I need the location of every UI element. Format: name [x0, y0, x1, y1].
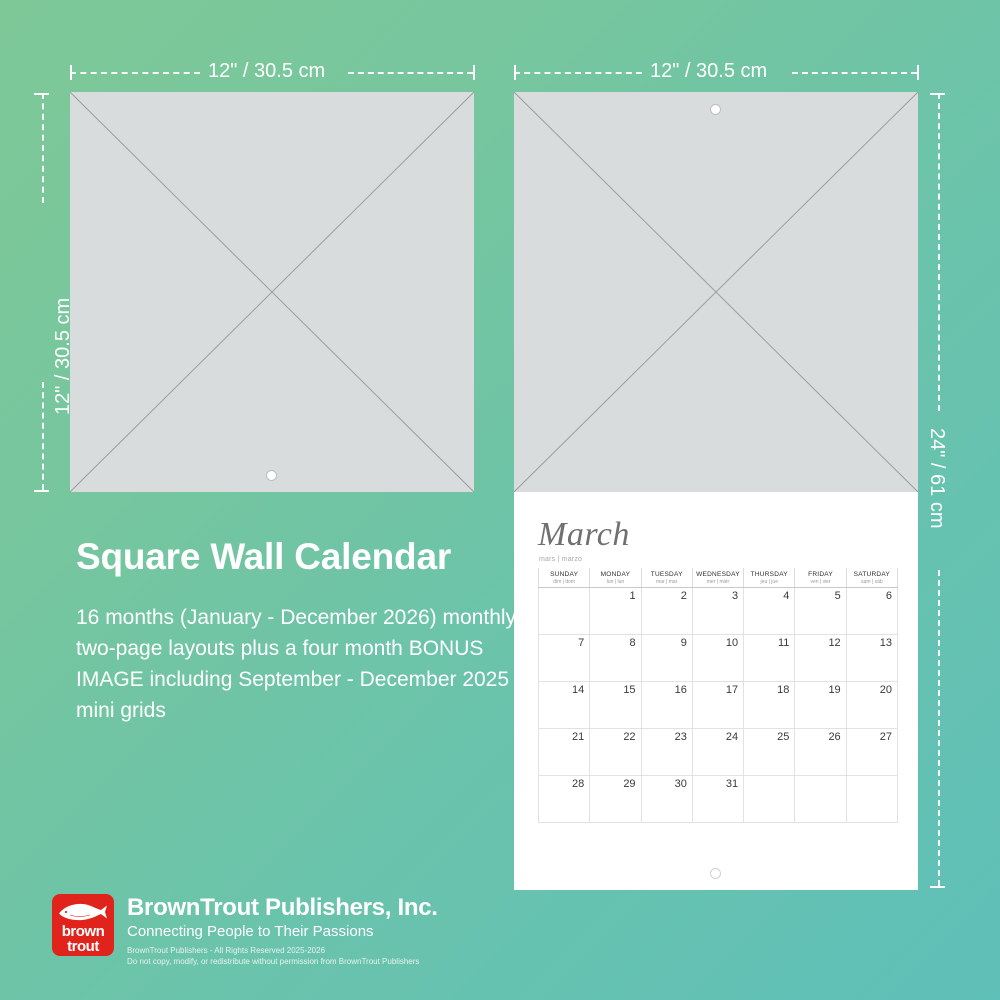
dash-line [514, 72, 642, 74]
weekday-translation: ven | vier [795, 579, 845, 585]
dash-line [938, 93, 940, 411]
calendar-cover-image-placeholder [70, 92, 474, 492]
day-cell[interactable]: 23 [641, 729, 692, 776]
product-preview-canvas: 12" / 30.5 cm 12" / 30.5 cm 12" / 30.5 c… [0, 0, 1000, 1000]
day-cell[interactable]: 19 [795, 682, 846, 729]
weekday-translation: lun | lun [590, 579, 640, 585]
weekday-name: FRIDAY [795, 571, 845, 578]
day-cell[interactable]: 15 [590, 682, 641, 729]
day-cell[interactable] [846, 776, 897, 823]
weekday-header-friday: FRIDAY ven | vier [795, 568, 846, 588]
day-cell[interactable]: 25 [744, 729, 795, 776]
weekday-translation: sam | sáb [847, 579, 897, 585]
tick-cap [34, 490, 49, 492]
logo-word-top: brown [52, 924, 114, 939]
calendar-grid-page: March mars | marzo SUNDAY dim | dom MOND… [514, 492, 918, 890]
weekday-header-sunday: SUNDAY dim | dom [539, 568, 590, 588]
day-cell[interactable]: 9 [641, 635, 692, 682]
day-cell[interactable]: 11 [744, 635, 795, 682]
day-cell[interactable]: 17 [692, 682, 743, 729]
tick-cap [473, 65, 475, 80]
weekday-header-wednesday: WEDNESDAY mer | miér [692, 568, 743, 588]
weekday-header-monday: MONDAY lun | lun [590, 568, 641, 588]
dash-line [792, 72, 917, 74]
weekday-translation: dim | dom [539, 579, 589, 585]
calendar-month-subtitle: mars | marzo [539, 556, 582, 563]
dash-line [348, 72, 473, 74]
day-cell[interactable]: 31 [692, 776, 743, 823]
day-cell[interactable]: 8 [590, 635, 641, 682]
product-description: 16 months (January - December 2026) mont… [76, 602, 546, 726]
calendar-week-row: 1 2 3 4 5 6 [539, 588, 898, 635]
calendar-top-page-image-placeholder [514, 92, 918, 492]
legal-line-2: Do not copy, modify, or redistribute wit… [127, 956, 438, 967]
weekday-name: MONDAY [590, 571, 640, 578]
dash-line [938, 570, 940, 886]
page-title: Square Wall Calendar [76, 536, 451, 578]
tick-cap [930, 886, 945, 888]
calendar-week-row: 28 29 30 31 [539, 776, 898, 823]
footer: brown trout BrownTrout Publishers, Inc. … [52, 894, 438, 967]
day-cell[interactable]: 24 [692, 729, 743, 776]
calendar-table: SUNDAY dim | dom MONDAY lun | lun TUESDA… [538, 568, 898, 823]
calendar-week-row: 21 22 23 24 25 26 27 [539, 729, 898, 776]
weekday-name: TUESDAY [642, 571, 692, 578]
legal-line-1: BrownTrout Publishers - All Rights Reser… [127, 945, 438, 956]
day-cell[interactable]: 2 [641, 588, 692, 635]
dimension-label-right-vertical: 24" / 61 cm [925, 428, 948, 528]
placeholder-cross-icon [70, 92, 474, 492]
day-cell[interactable]: 20 [846, 682, 897, 729]
calendar-weekday-header-row: SUNDAY dim | dom MONDAY lun | lun TUESDA… [539, 568, 898, 588]
dimension-label-top-right: 12" / 30.5 cm [650, 60, 767, 83]
weekday-translation: mar | mar [642, 579, 692, 585]
weekday-name: SATURDAY [847, 571, 897, 578]
day-cell[interactable]: 30 [641, 776, 692, 823]
logo-wordmark: brown trout [52, 924, 114, 954]
day-cell[interactable]: 22 [590, 729, 641, 776]
day-cell[interactable]: 12 [795, 635, 846, 682]
legal-notice: BrownTrout Publishers - All Rights Reser… [127, 945, 438, 967]
logo-word-bottom: trout [52, 939, 114, 954]
weekday-name: WEDNESDAY [693, 571, 743, 578]
brand-tagline: Connecting People to Their Passions [127, 923, 438, 940]
tick-cap [917, 65, 919, 80]
hole-punch-icon [266, 470, 277, 481]
day-cell[interactable]: 16 [641, 682, 692, 729]
placeholder-cross-icon [514, 92, 918, 492]
day-cell[interactable]: 10 [692, 635, 743, 682]
day-cell[interactable]: 1 [590, 588, 641, 635]
day-cell[interactable]: 28 [539, 776, 590, 823]
day-cell[interactable]: 13 [846, 635, 897, 682]
day-cell[interactable]: 4 [744, 588, 795, 635]
dash-line [70, 72, 200, 74]
calendar-month-title: March [538, 516, 630, 554]
day-cell[interactable] [744, 776, 795, 823]
weekday-translation: mer | miér [693, 579, 743, 585]
dash-line [42, 382, 44, 490]
day-cell[interactable]: 5 [795, 588, 846, 635]
dash-line [42, 93, 44, 203]
hole-punch-icon [710, 868, 721, 879]
day-cell[interactable]: 21 [539, 729, 590, 776]
day-cell[interactable]: 6 [846, 588, 897, 635]
calendar-week-row: 14 15 16 17 18 19 20 [539, 682, 898, 729]
weekday-name: THURSDAY [744, 571, 794, 578]
day-cell[interactable]: 29 [590, 776, 641, 823]
day-cell[interactable]: 7 [539, 635, 590, 682]
day-cell[interactable] [539, 588, 590, 635]
hole-punch-icon [710, 104, 721, 115]
day-cell[interactable]: 26 [795, 729, 846, 776]
trout-fish-icon [57, 900, 109, 924]
dimension-label-top-left: 12" / 30.5 cm [208, 60, 325, 83]
browntrout-logo: brown trout [52, 894, 114, 956]
weekday-header-saturday: SATURDAY sam | sáb [846, 568, 897, 588]
day-cell[interactable]: 14 [539, 682, 590, 729]
weekday-translation: jeu | jue [744, 579, 794, 585]
weekday-header-thursday: THURSDAY jeu | jue [744, 568, 795, 588]
day-cell[interactable]: 3 [692, 588, 743, 635]
day-cell[interactable]: 18 [744, 682, 795, 729]
footer-text-block: BrownTrout Publishers, Inc. Connecting P… [127, 894, 438, 967]
weekday-header-tuesday: TUESDAY mar | mar [641, 568, 692, 588]
weekday-name: SUNDAY [539, 571, 589, 578]
day-cell[interactable] [795, 776, 846, 823]
day-cell[interactable]: 27 [846, 729, 897, 776]
brand-name: BrownTrout Publishers, Inc. [127, 894, 438, 922]
calendar-week-row: 7 8 9 10 11 12 13 [539, 635, 898, 682]
